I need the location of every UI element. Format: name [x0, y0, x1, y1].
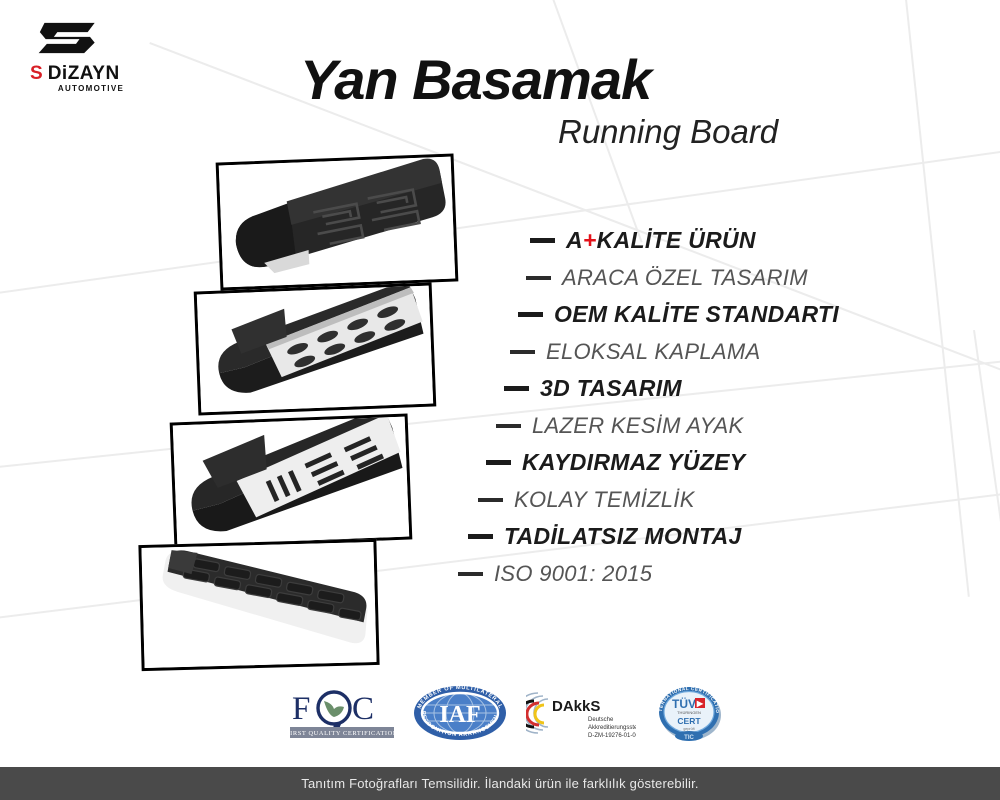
plus-accent: +	[583, 227, 597, 253]
feature-label: KOLAY TEMİZLİK	[514, 487, 695, 513]
svg-text:IAF: IAF	[439, 702, 480, 728]
tuv-bottom-tag: TIC	[684, 735, 694, 741]
page-title: Yan Basamak	[300, 52, 730, 108]
feature-item: ARACA ÖZEL TASARIM	[440, 259, 920, 296]
bullet-dash-icon	[530, 238, 555, 243]
iaf-certification-logo: IAF MEMBER OF MULTILATERAL RECOGNITION A…	[412, 684, 508, 742]
feature-item: 3D TASARIM	[440, 370, 920, 407]
feature-item: LAZER KESİM AYAK	[440, 407, 920, 444]
feature-label: 3D TASARIM	[540, 375, 682, 402]
page-subtitle: Running Board	[558, 115, 778, 148]
feature-item: TADİLATSIZ MONTAJ	[440, 518, 920, 555]
feature-item: KOLAY TEMİZLİK	[440, 481, 920, 518]
feature-label: A+KALİTE ÜRÜN	[566, 227, 756, 254]
running-board-silver-slats	[173, 417, 409, 546]
fqc-certification-logo: F C FIRST QUALITY CERTIFICATION	[290, 685, 394, 741]
bullet-dash-icon	[496, 424, 521, 428]
feature-item: KAYDIRMAZ YÜZEY	[440, 444, 920, 481]
tuv-title: TÜV	[672, 696, 696, 711]
svg-text:F: F	[292, 691, 310, 727]
feature-label: ARACA ÖZEL TASARIM	[562, 265, 808, 291]
feature-label: ELOKSAL KAPLAMA	[546, 339, 760, 365]
bullet-dash-icon	[510, 350, 535, 354]
cert-iaf[interactable]: IAF MEMBER OF MULTILATERAL RECOGNITION A…	[412, 684, 508, 742]
feature-label: KAYDIRMAZ YÜZEY	[522, 449, 745, 476]
feature-item: A+KALİTE ÜRÜN	[440, 222, 920, 259]
feature-label: OEM KALİTE STANDARTI	[554, 301, 839, 328]
cert-fqc[interactable]: F C FIRST QUALITY CERTIFICATION	[290, 684, 394, 742]
running-board-black-maze-tread	[219, 157, 456, 288]
cert-tuv[interactable]: INTERNATIONAL CERTIFICATION TÜV ▶ THÜRIN…	[654, 684, 726, 742]
bullet-dash-icon	[458, 572, 483, 576]
footer-bar: Tanıtım Fotoğrafları Temsilidir. İlandak…	[0, 767, 1000, 800]
running-board-black-brick-tread	[141, 542, 376, 668]
dakks-accreditation-logo: DAkkS Deutsche Akkreditierungsstelle D-Z…	[526, 685, 636, 741]
dakks-line-1: Deutsche	[588, 717, 614, 723]
brand-s-letter: S	[30, 64, 43, 83]
running-board-silver-oval-pads	[197, 286, 433, 413]
feature-label: TADİLATSIZ MONTAJ	[504, 523, 742, 550]
feature-item: ELOKSAL KAPLAMA	[440, 333, 920, 370]
product-photo-3[interactable]	[170, 413, 413, 548]
tuv-thuringen-cert-logo: INTERNATIONAL CERTIFICATION TÜV ▶ THÜRIN…	[654, 684, 726, 742]
footer-disclaimer: Tanıtım Fotoğrafları Temsilidir. İlandak…	[301, 776, 699, 791]
bullet-dash-icon	[518, 312, 543, 317]
bullet-dash-icon	[478, 498, 503, 502]
cert-dakks[interactable]: DAkkS Deutsche Akkreditierungsstelle D-Z…	[526, 684, 636, 742]
feature-item: ISO 9001: 2015	[440, 555, 920, 592]
tuv-cert-text: CERT	[677, 716, 701, 726]
bullet-dash-icon	[504, 386, 529, 391]
feature-list: A+KALİTE ÜRÜN ARACA ÖZEL TASARIM OEM KAL…	[440, 222, 920, 592]
brand-wordmark: S DiZAYN	[30, 64, 162, 83]
brand-logo[interactable]: S DiZAYN AUTOMOTIVE	[22, 14, 162, 93]
tuv-small-line: geprüft	[683, 727, 694, 731]
bullet-dash-icon	[468, 534, 493, 539]
feature-item: OEM KALİTE STANDARTI	[440, 296, 920, 333]
bullet-dash-icon	[486, 460, 511, 465]
svg-text:▶: ▶	[696, 699, 704, 708]
product-photo-2[interactable]	[194, 282, 437, 415]
dakks-line-2: Akkreditierungsstelle	[588, 725, 636, 731]
product-photo-4[interactable]	[138, 539, 379, 671]
dakks-title: DAkkS	[552, 698, 600, 715]
background-line-6	[973, 330, 1000, 800]
feature-label: ISO 9001: 2015	[494, 561, 652, 587]
dakks-line-3: D-ZM-19276-01-00	[588, 733, 636, 739]
feature-label: LAZER KESİM AYAK	[532, 413, 743, 439]
svg-text:C: C	[352, 691, 374, 727]
tuv-subtitle: THÜRINGEN	[677, 710, 701, 715]
fqc-caption: FIRST QUALITY CERTIFICATION	[290, 730, 394, 737]
bullet-dash-icon	[526, 276, 551, 280]
product-photo-1[interactable]	[216, 153, 459, 290]
brand-tagline: AUTOMOTIVE	[32, 84, 150, 93]
poster-canvas: S DiZAYN AUTOMOTIVE Yan Basamak Running …	[0, 0, 1000, 800]
s-logo-icon	[34, 14, 104, 62]
certification-badges: F C FIRST QUALITY CERTIFICATION	[290, 682, 720, 744]
brand-name: DiZAYN	[48, 64, 120, 83]
